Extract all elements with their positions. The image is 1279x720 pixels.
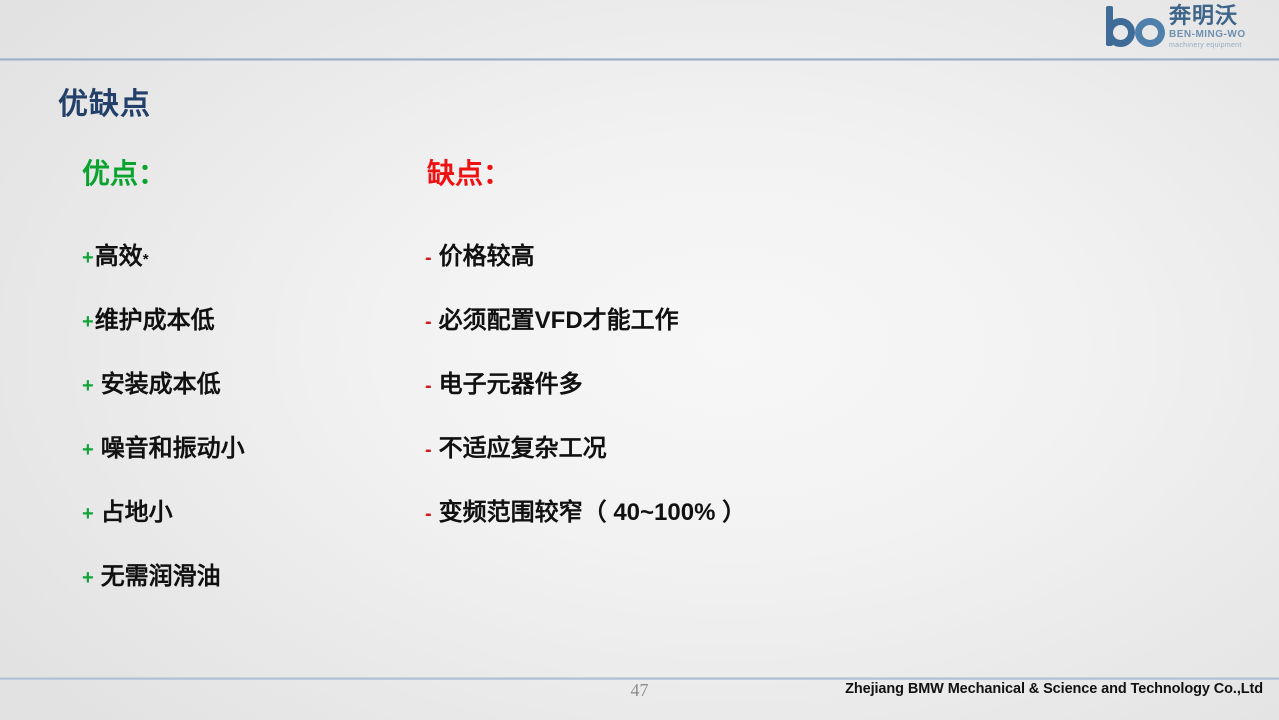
footer-company-name: Zhejiang BMW Mechanical & Science and Te… bbox=[845, 681, 1263, 697]
plus-icon: + bbox=[82, 247, 94, 270]
plus-icon: + bbox=[82, 503, 94, 526]
plus-icon: + bbox=[82, 311, 94, 334]
list-item: + 维护成本低 bbox=[82, 300, 422, 364]
cons-heading: 缺点： bbox=[427, 160, 925, 188]
minus-icon: - bbox=[425, 311, 432, 334]
logo-romanized-name: BEN-MING-WO bbox=[1169, 30, 1246, 40]
list-item: + 噪音和振动小 bbox=[82, 428, 422, 492]
cons-item-label: 必须配置VFD才能工作 bbox=[439, 300, 679, 335]
pros-heading: 优点： bbox=[82, 160, 422, 188]
slide: 奔明沃 BEN-MING-WO machinery equipment 优缺点 … bbox=[0, 0, 1279, 720]
logo-tagline: machinery equipment bbox=[1169, 42, 1246, 49]
pros-item-label: 高效 bbox=[95, 236, 143, 271]
list-item: - 不适应复杂工况 bbox=[425, 428, 925, 492]
footnote-asterisk: * bbox=[143, 251, 149, 268]
cons-item-label: 价格较高 bbox=[439, 236, 535, 271]
list-item: + 无需润滑油 bbox=[82, 556, 422, 620]
minus-icon: - bbox=[425, 375, 432, 398]
page-title: 优缺点 bbox=[58, 79, 151, 123]
minus-icon: - bbox=[425, 247, 432, 270]
logo-chinese-name: 奔明沃 bbox=[1169, 6, 1246, 28]
pros-item-label: 无需润滑油 bbox=[101, 556, 221, 591]
list-item: - 电子元器件多 bbox=[425, 364, 925, 428]
pros-item-label: 安装成本低 bbox=[101, 364, 221, 399]
pros-item-label: 占地小 bbox=[101, 492, 173, 527]
list-item: + 占地小 bbox=[82, 492, 422, 556]
minus-icon: - bbox=[425, 503, 432, 526]
list-item: + 高效 * bbox=[82, 236, 422, 300]
plus-icon: + bbox=[82, 567, 94, 590]
bo-monogram-icon bbox=[1105, 6, 1167, 48]
cons-item-label: 电子元器件多 bbox=[439, 364, 583, 399]
pros-item-label: 噪音和振动小 bbox=[101, 428, 245, 463]
pros-item-label: 维护成本低 bbox=[95, 300, 215, 335]
company-logo: 奔明沃 BEN-MING-WO machinery equipment bbox=[1105, 2, 1271, 52]
minus-icon: - bbox=[425, 439, 432, 462]
plus-icon: + bbox=[82, 375, 94, 398]
header-divider bbox=[0, 58, 1279, 61]
logo-wordmark: 奔明沃 BEN-MING-WO machinery equipment bbox=[1169, 6, 1246, 49]
list-item: - 价格较高 bbox=[425, 236, 925, 300]
pros-column: 优点： + 高效 * + 维护成本低 + 安装成本低 + 噪音和振动小 + 占地… bbox=[82, 160, 422, 620]
cons-column: 缺点： - 价格较高 - 必须配置VFD才能工作 - 电子元器件多 - 不适应复… bbox=[425, 160, 925, 556]
cons-item-label: 不适应复杂工况 bbox=[439, 428, 607, 463]
cons-item-label: 变频范围较窄（ 40~100% ） bbox=[439, 492, 746, 527]
list-item: - 必须配置VFD才能工作 bbox=[425, 300, 925, 364]
plus-icon: + bbox=[82, 439, 94, 462]
list-item: - 变频范围较窄（ 40~100% ） bbox=[425, 492, 925, 556]
list-item: + 安装成本低 bbox=[82, 364, 422, 428]
